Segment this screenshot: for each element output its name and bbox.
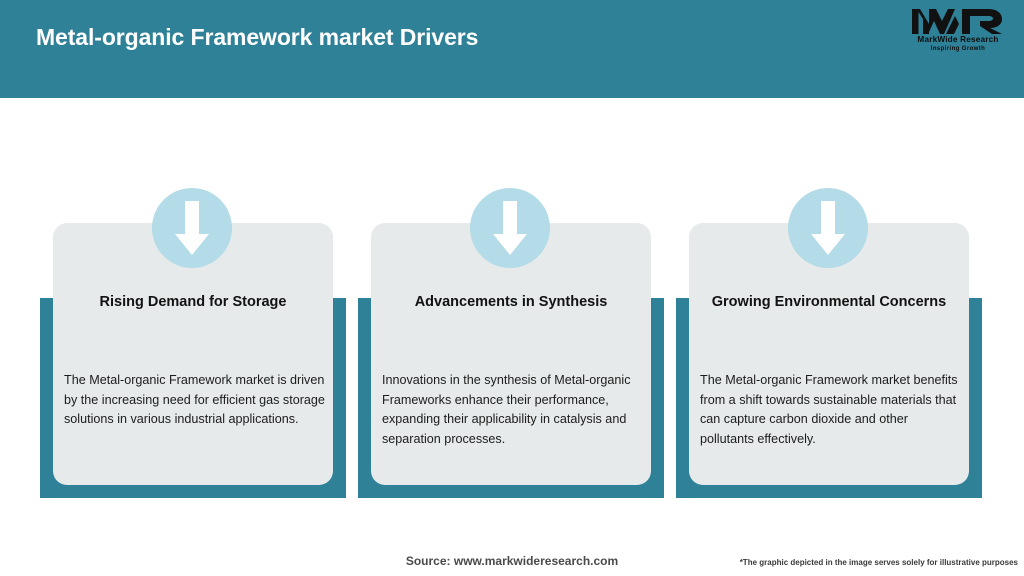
disclaimer-label: *The graphic depicted in the image serve… [740,558,1018,567]
header-bar: Metal-organic Framework market Drivers M… [0,0,1024,98]
down-arrow-glyph [174,201,210,256]
driver-card[interactable]: Growing Environmental Concerns The Metal… [676,143,982,498]
down-arrow-glyph [492,201,528,256]
card-title: Advancements in Synthesis [384,291,638,313]
down-arrow-icon [788,188,868,268]
down-arrow-icon [152,188,232,268]
driver-card[interactable]: Rising Demand for Storage The Metal-orga… [40,143,346,498]
down-arrow-glyph [810,201,846,256]
logo-tagline: Inspiring Growth [906,45,1010,53]
drivers-card-row: Rising Demand for Storage The Metal-orga… [0,98,1024,538]
card-body-text: The Metal-organic Framework market benef… [700,371,962,449]
down-arrow-icon [470,188,550,268]
driver-card[interactable]: Advancements in Synthesis Innovations in… [358,143,664,498]
card-body-text: The Metal-organic Framework market is dr… [64,371,326,430]
card-body-text: Innovations in the synthesis of Metal-or… [382,371,644,449]
page-title: Metal-organic Framework market Drivers [36,24,478,51]
card-title: Growing Environmental Concerns [702,291,956,313]
brand-logo: MarkWide Research Inspiring Growth [906,6,1010,58]
card-title: Rising Demand for Storage [66,291,320,313]
mwr-logo-icon [910,6,1006,36]
logo-company-name: MarkWide Research [906,35,1010,45]
